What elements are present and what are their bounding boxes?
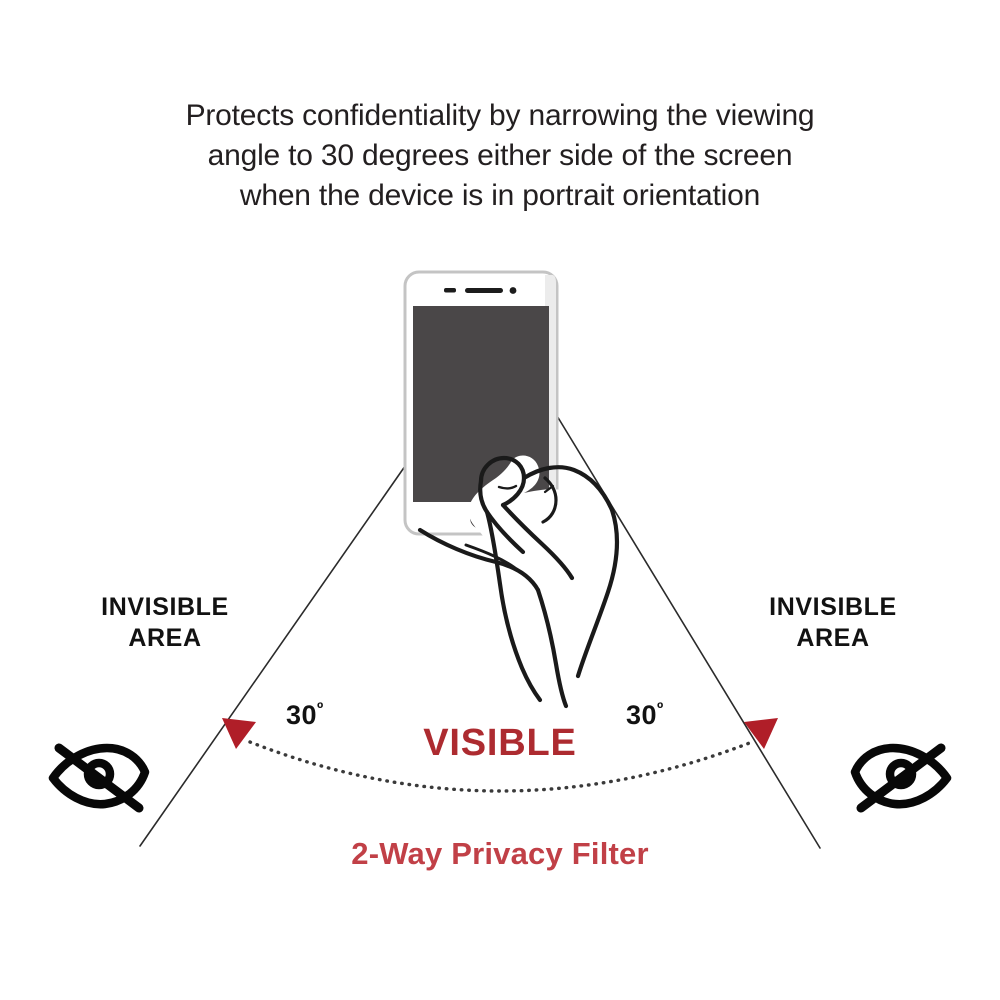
invisible-right-line-2: AREA: [728, 623, 938, 654]
privacy-filter-diagram: Protects confidentiality by narrowing th…: [0, 0, 1000, 1000]
invisible-area-label-right: INVISIBLE AREA: [728, 592, 938, 654]
invisible-right-line-1: INVISIBLE: [728, 592, 938, 623]
degree-symbol-left: º: [317, 699, 324, 718]
degree-symbol-right: º: [657, 699, 664, 718]
invisible-left-line-2: AREA: [60, 623, 270, 654]
phone-camera-icon: [510, 287, 517, 294]
diagram-caption: 2-Way Privacy Filter: [0, 836, 1000, 872]
visible-area-label: VISIBLE: [0, 722, 1000, 765]
phone-sensor-icon: [444, 288, 456, 293]
invisible-left-line-1: INVISIBLE: [60, 592, 270, 623]
phone-speaker-icon: [465, 288, 503, 293]
invisible-area-label-left: INVISIBLE AREA: [60, 592, 270, 654]
